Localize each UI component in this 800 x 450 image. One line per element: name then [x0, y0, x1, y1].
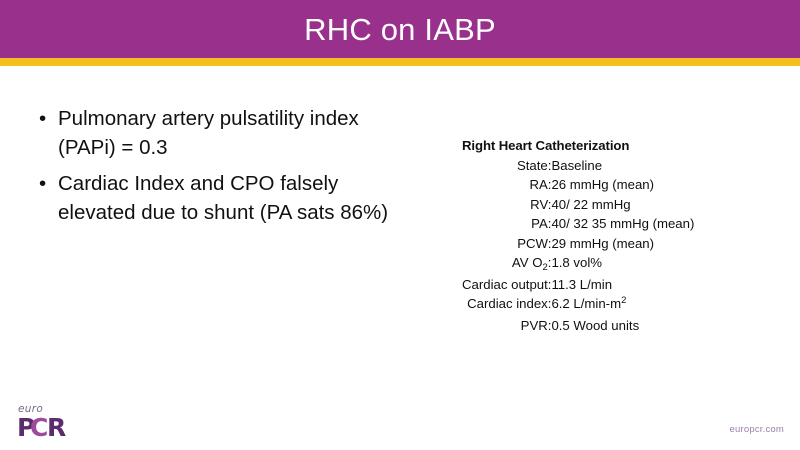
rhc-row-value: 6.2 L/min-m2	[551, 294, 694, 316]
list-item-text: Cardiac Index and CPO falsely elevated d…	[58, 172, 388, 224]
rhc-row-value: Baseline	[551, 156, 694, 176]
slide-body: • Pulmonary artery pulsatility index (PA…	[0, 66, 800, 450]
list-item: • Cardiac Index and CPO falsely elevated…	[34, 169, 394, 227]
rhc-row-label: PVR:	[462, 316, 551, 336]
rhc-row-label: AV O2:	[462, 253, 551, 275]
table-row: RA: 26 mmHg (mean)	[462, 175, 694, 195]
logo-letter-r: R	[47, 415, 66, 440]
europcr-logo: euro P C R	[17, 404, 97, 444]
rhc-row-value: 40/ 32 35 mmHg (mean)	[551, 214, 694, 234]
bullet-marker-icon: •	[39, 169, 46, 198]
table-row: AV O2: 1.8 vol%	[462, 253, 694, 275]
rhc-report-title: Right Heart Catheterization	[462, 136, 694, 156]
list-item-text: Pulmonary artery pulsatility index (PAPi…	[58, 107, 359, 159]
bullet-marker-icon: •	[39, 104, 46, 133]
rhc-row-label: PCW:	[462, 234, 551, 254]
footer-url: europcr.com	[730, 424, 784, 435]
rhc-row-value: 11.3 L/min	[551, 275, 694, 295]
table-row: RV: 40/ 22 mmHg	[462, 195, 694, 215]
logo-pcr-text: P C R	[17, 415, 97, 439]
page-title: RHC on IABP	[304, 14, 496, 45]
table-row: PVR: 0.5 Wood units	[462, 316, 694, 336]
rhc-row-label: RV:	[462, 195, 551, 215]
rhc-row-value: 26 mmHg (mean)	[551, 175, 694, 195]
logo-letter-c: C	[30, 415, 48, 440]
rhc-row-label: Cardiac output:	[462, 275, 551, 295]
rhc-row-value: 29 mmHg (mean)	[551, 234, 694, 254]
bullet-list: • Pulmonary artery pulsatility index (PA…	[34, 104, 394, 234]
table-row: PA: 40/ 32 35 mmHg (mean)	[462, 214, 694, 234]
rhc-row-value: 1.8 vol%	[551, 253, 694, 275]
header-accent-rule	[0, 58, 800, 66]
rhc-row-label: RA:	[462, 175, 551, 195]
table-row: State: Baseline	[462, 156, 694, 176]
slide-header: RHC on IABP	[0, 0, 800, 58]
table-row: Cardiac index: 6.2 L/min-m2	[462, 294, 694, 316]
table-row: PCW: 29 mmHg (mean)	[462, 234, 694, 254]
rhc-report-table: State: Baseline RA: 26 mmHg (mean) RV: 4…	[462, 156, 694, 336]
rhc-report-block: Right Heart Catheterization State: Basel…	[462, 136, 694, 335]
rhc-row-value: 0.5 Wood units	[551, 316, 694, 336]
list-item: • Pulmonary artery pulsatility index (PA…	[34, 104, 394, 162]
rhc-row-value: 40/ 22 mmHg	[551, 195, 694, 215]
table-row: Cardiac output: 11.3 L/min	[462, 275, 694, 295]
rhc-row-label: PA:	[462, 214, 551, 234]
rhc-row-label: Cardiac index:	[462, 294, 551, 316]
rhc-row-label: State:	[462, 156, 551, 176]
